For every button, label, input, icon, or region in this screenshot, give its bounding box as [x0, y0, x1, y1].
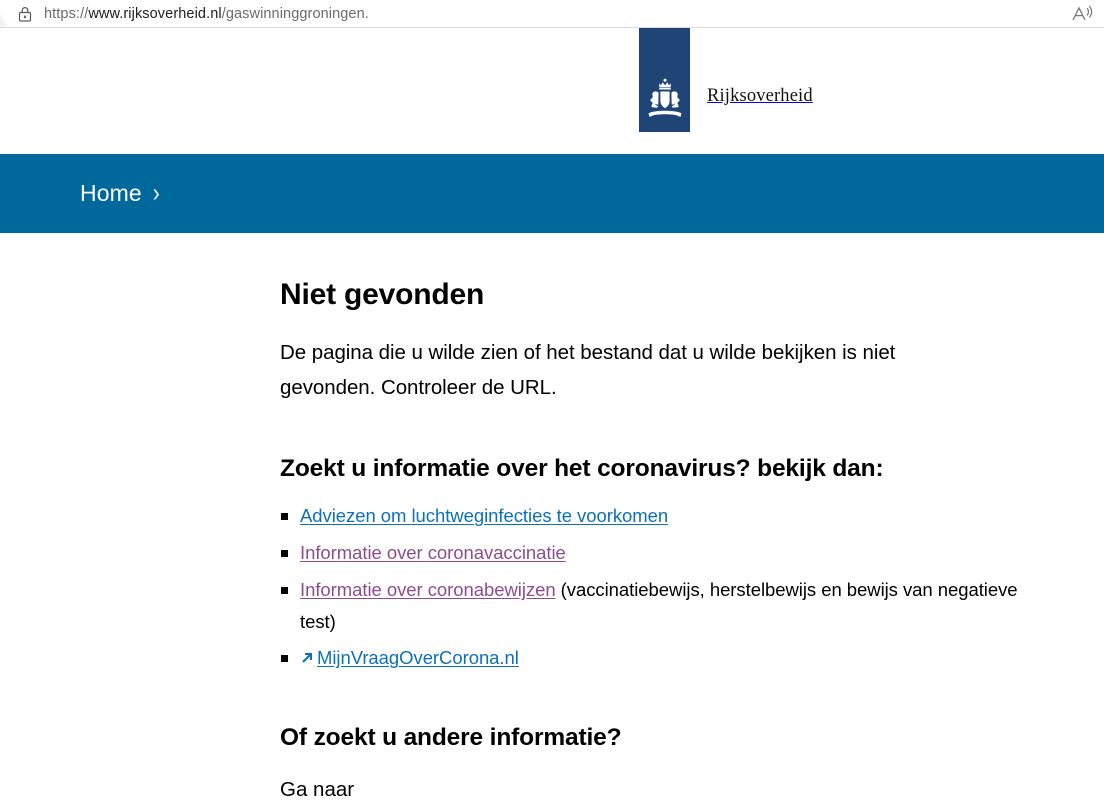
- url-path: /gaswinninggroningen.: [222, 6, 369, 22]
- chevron-right-icon: ›: [153, 180, 160, 206]
- lock-icon[interactable]: [18, 6, 32, 22]
- link-coronabewijzen[interactable]: Informatie over coronabewijzen: [300, 579, 556, 600]
- list-item: Informatie over coronabewijzen (vaccinat…: [280, 574, 1040, 638]
- address-bar[interactable]: https://www.rijksoverheid.nl/gaswinningg…: [0, 0, 1104, 27]
- other-info-text: Ga naar: [280, 772, 1044, 807]
- square-bullet-icon: [281, 587, 288, 594]
- netherlands-coat-of-arms-icon: [639, 28, 690, 132]
- page-title: Niet gevonden: [280, 277, 1044, 313]
- read-aloud-icon[interactable]: [1071, 3, 1095, 25]
- square-bullet-icon: [281, 550, 288, 557]
- square-bullet-icon: [281, 655, 288, 662]
- breadcrumb: Home ›: [0, 154, 1104, 233]
- link-adviezen-luchtweginfecties[interactable]: Adviezen om luchtweginfecties te voorkom…: [300, 505, 668, 526]
- intro-paragraph: De pagina die u wilde zien of het bestan…: [280, 335, 995, 406]
- breadcrumb-item-home[interactable]: Home: [80, 180, 142, 207]
- list-item: Informatie over coronavaccinatie: [280, 537, 1040, 569]
- url-scheme: https://: [44, 6, 88, 22]
- corona-section-heading: Zoekt u informatie over het coronavirus?…: [280, 454, 1044, 485]
- corona-link-list: Adviezen om luchtweginfecties te voorkom…: [280, 500, 1040, 674]
- site-logo[interactable]: Rijksoverheid: [639, 28, 813, 132]
- square-bullet-icon: [281, 513, 288, 520]
- site-header: Rijksoverheid: [0, 28, 1104, 154]
- main-content: Niet gevonden De pagina die u wilde zien…: [0, 233, 1104, 807]
- url-host: www.rijksoverheid.nl: [88, 6, 221, 22]
- external-link-arrow-icon: [300, 651, 314, 665]
- list-item: MijnVraagOverCorona.nl: [280, 642, 1040, 674]
- other-info-heading: Of zoekt u andere informatie?: [280, 724, 1044, 752]
- organisation-name: Rijksoverheid: [707, 86, 813, 107]
- list-item: Adviezen om luchtweginfecties te voorkom…: [280, 500, 1040, 532]
- link-mijnvraagovercorona[interactable]: MijnVraagOverCorona.nl: [317, 647, 519, 668]
- browser-chrome: https://www.rijksoverheid.nl/gaswinningg…: [0, 0, 1104, 28]
- url-text[interactable]: https://www.rijksoverheid.nl/gaswinningg…: [44, 6, 369, 22]
- link-coronavaccinatie[interactable]: Informatie over coronavaccinatie: [300, 542, 566, 563]
